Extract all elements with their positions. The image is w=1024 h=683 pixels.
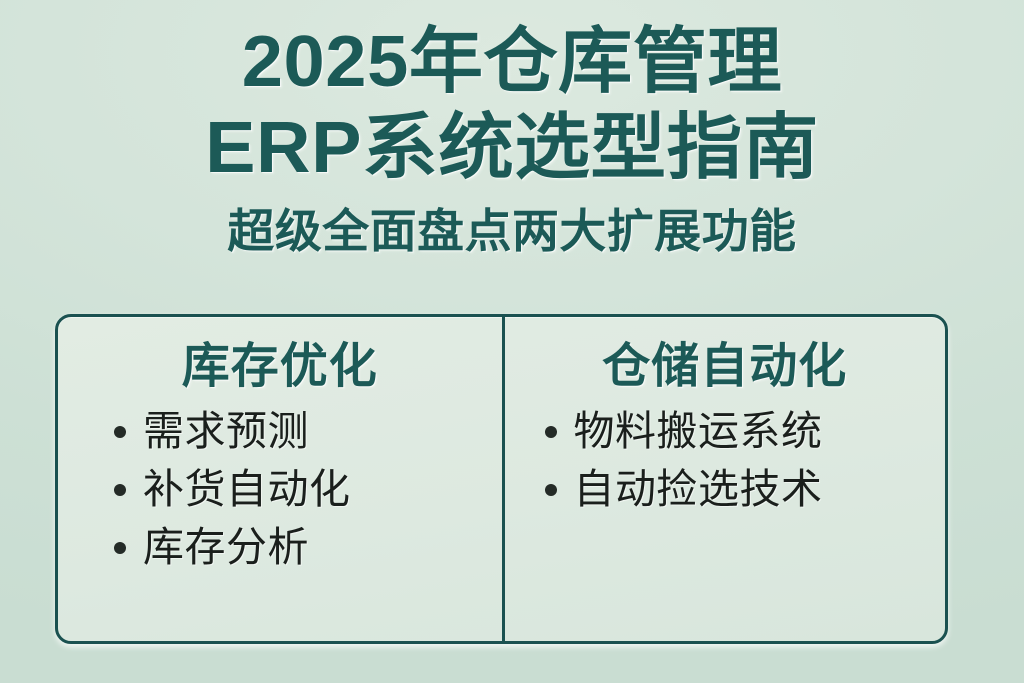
feature-column-inventory-optimization: 库存优化 需求预测 补货自动化 库存分析: [58, 317, 502, 641]
bullet-list-warehouse-automation: 物料搬运系统 自动捡选技术: [545, 409, 823, 525]
list-item: 自动捡选技术: [545, 467, 823, 513]
list-item-label: 物料搬运系统: [574, 409, 823, 455]
column-heading-warehouse-automation: 仓储自动化: [602, 343, 847, 391]
list-item: 补货自动化: [114, 467, 351, 513]
bullet-dot-icon: [545, 426, 557, 438]
list-item-label: 需求预测: [143, 409, 309, 455]
feature-card: 库存优化 需求预测 补货自动化 库存分析 仓储自动化: [55, 314, 948, 644]
bullet-dot-icon: [114, 426, 126, 438]
list-item: 库存分析: [114, 525, 351, 571]
bullet-dot-icon: [545, 484, 557, 496]
page-title-line-2: ERP系统选型指南: [0, 112, 1024, 184]
page-title-line-1: 2025年仓库管理: [0, 26, 1024, 98]
list-item-label: 库存分析: [143, 525, 309, 571]
list-item-label: 补货自动化: [143, 467, 351, 513]
list-item: 需求预测: [114, 409, 351, 455]
bullet-dot-icon: [114, 484, 126, 496]
feature-column-warehouse-automation: 仓储自动化 物料搬运系统 自动捡选技术: [502, 317, 946, 641]
list-item-label: 自动捡选技术: [574, 467, 823, 513]
list-item: 物料搬运系统: [545, 409, 823, 455]
poster-header: 2025年仓库管理 ERP系统选型指南 超级全面盘点两大扩展功能: [0, 0, 1024, 254]
column-heading-inventory-optimization: 库存优化: [182, 343, 378, 391]
page-subtitle: 超级全面盘点两大扩展功能: [0, 208, 1024, 254]
bullet-dot-icon: [114, 542, 126, 554]
bullet-list-inventory-optimization: 需求预测 补货自动化 库存分析: [114, 409, 351, 583]
poster-canvas: 2025年仓库管理 ERP系统选型指南 超级全面盘点两大扩展功能 库存优化 需求…: [0, 0, 1024, 683]
